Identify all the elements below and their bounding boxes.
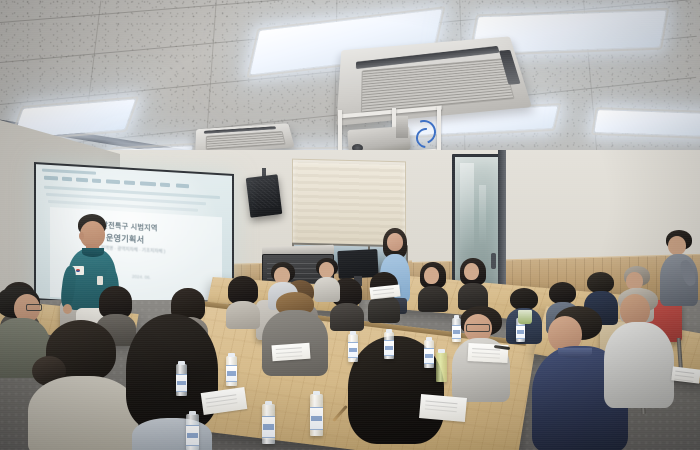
seated-attendee xyxy=(458,258,488,310)
eyeglasses xyxy=(466,324,490,332)
water-bottle[interactable] xyxy=(424,340,434,368)
foreground-attendee-white xyxy=(604,288,674,408)
water-bottle[interactable] xyxy=(348,334,358,362)
handout-document[interactable] xyxy=(271,343,310,362)
seated-attendee xyxy=(418,262,448,312)
water-bottle[interactable] xyxy=(384,332,394,359)
foreground-attendee-bun xyxy=(28,320,138,450)
water-bottle[interactable] xyxy=(226,356,237,386)
water-bottle[interactable] xyxy=(186,414,199,450)
polo-collar xyxy=(558,348,592,358)
water-bottle[interactable] xyxy=(262,404,275,444)
slide-date: 2024. 06. xyxy=(132,274,151,280)
drink-cup[interactable] xyxy=(518,310,532,324)
door-frame-post xyxy=(498,150,506,306)
water-bottle[interactable] xyxy=(176,364,187,396)
midground-attendee-gray xyxy=(262,292,328,376)
handout-document[interactable] xyxy=(419,394,467,422)
presenter-collar xyxy=(82,248,104,257)
eyeglasses xyxy=(26,304,42,311)
attendee-head xyxy=(387,233,403,251)
water-bottle[interactable] xyxy=(436,352,447,382)
water-bottle[interactable] xyxy=(452,318,461,342)
seated-attendee xyxy=(226,276,260,328)
presenter-badge xyxy=(97,276,103,285)
door-handle xyxy=(491,253,496,269)
photo-scene: 교육발전특구 시범지역 운영기획서 ( 지역명 · 광역지자체 · 기초지자체 … xyxy=(0,0,700,450)
presenter-hand xyxy=(63,304,72,314)
presenter-ear xyxy=(79,232,84,240)
foreground-attendee-longhair xyxy=(126,314,218,450)
ceiling-light-panel-5 xyxy=(594,110,700,136)
water-bottle[interactable] xyxy=(310,394,323,436)
wall-speaker xyxy=(246,174,283,218)
